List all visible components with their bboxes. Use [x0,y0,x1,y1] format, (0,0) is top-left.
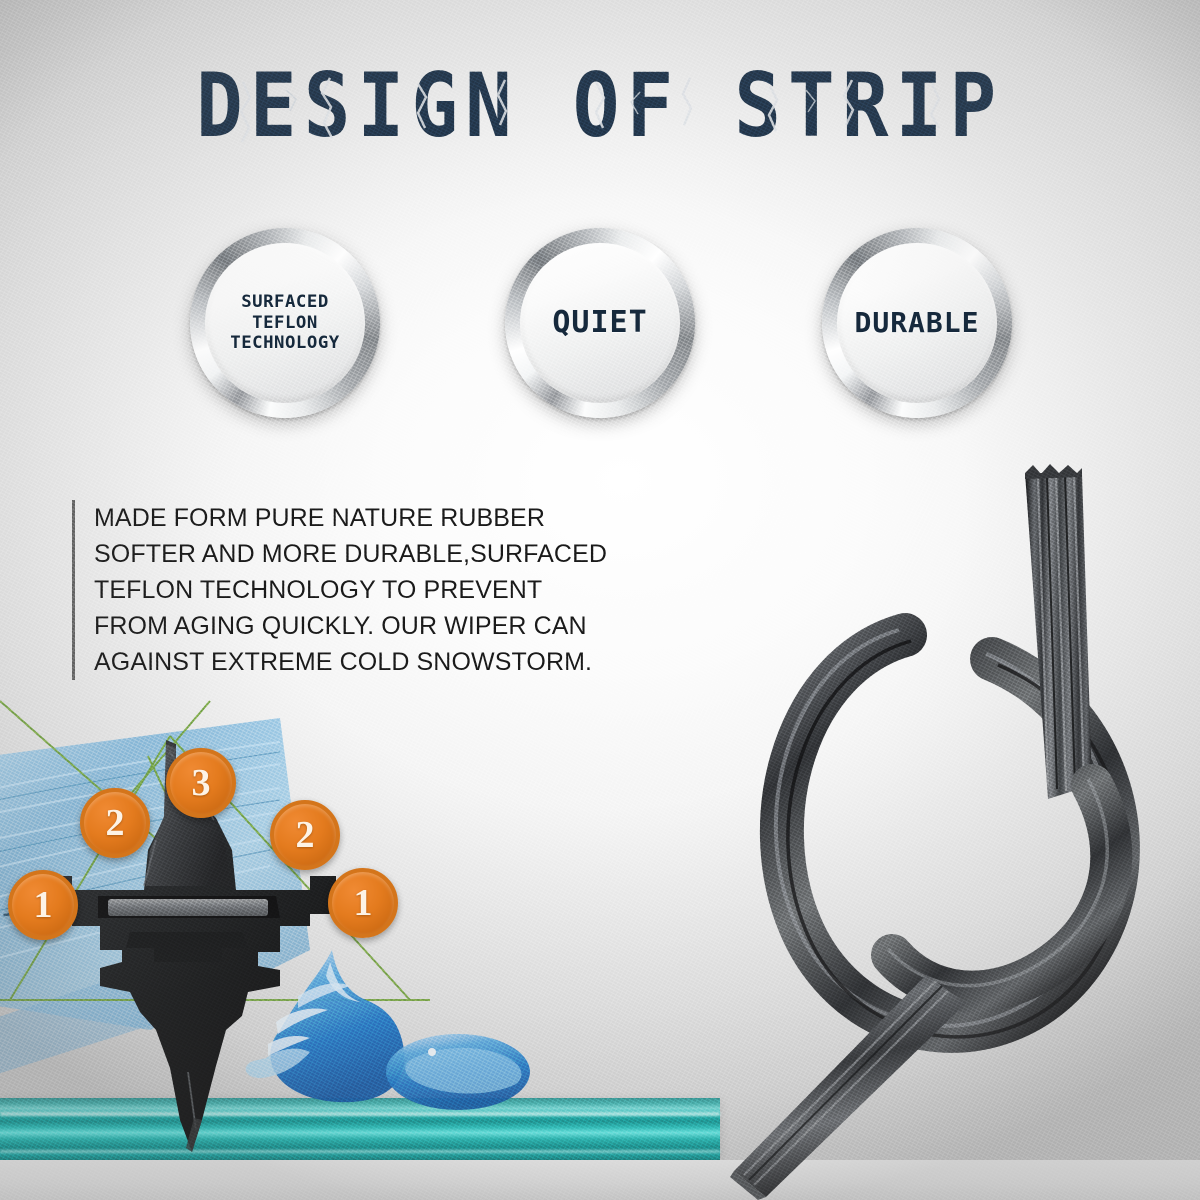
description-line: TEFLON TECHNOLOGY TO PREVENT [94,572,654,608]
description-line: AGAINST EXTREME COLD SNOWSTORM. [94,644,654,680]
badge-label: SURFACED TEFLON TECHNOLOGY [203,243,366,403]
description-line: FROM AGING QUICKLY. OUR WIPER CAN [94,608,654,644]
page-title-container: DESIGN OF STRIP [0,62,1200,138]
description-block: MADE FORM PURE NATURE RUBBER SOFTER AND … [72,500,654,680]
description-line: SOFTER AND MORE DURABLE,SURFACED [94,536,654,572]
callout-1-left[interactable]: 1 [8,870,78,940]
description-line: MADE FORM PURE NATURE RUBBER [94,500,654,536]
badge-surfaced-teflon-technology[interactable]: SURFACED TEFLON TECHNOLOGY [190,228,380,418]
callout-3-apex[interactable]: 3 [166,748,236,818]
badge-durable[interactable]: DURABLE [822,228,1012,418]
callout-2-left[interactable]: 2 [80,788,150,858]
infographic-canvas: DESIGN OF STRIP SURFACED TEFLON T [0,0,1200,1200]
metal-spine [108,899,268,916]
wiper-cross-section-diagram: 1 2 3 2 1 [0,700,740,1160]
callout-2-right[interactable]: 2 [270,800,340,870]
water-droplets [246,950,530,1110]
rubber-strip-art [730,455,1200,1200]
callout-1-right[interactable]: 1 [328,868,398,938]
rubber-strip-photo [730,455,1200,1200]
badge-label: QUIET [520,243,680,403]
badge-quiet[interactable]: QUIET [505,228,695,418]
strip-front-arc [892,785,1111,992]
page-title: DESIGN OF STRIP [196,62,1003,150]
strip-cut-edge [1025,464,1082,479]
feature-badges: SURFACED TEFLON TECHNOLOGY QUIET DURABLE [0,228,1200,418]
badge-label: DURABLE [837,243,997,403]
